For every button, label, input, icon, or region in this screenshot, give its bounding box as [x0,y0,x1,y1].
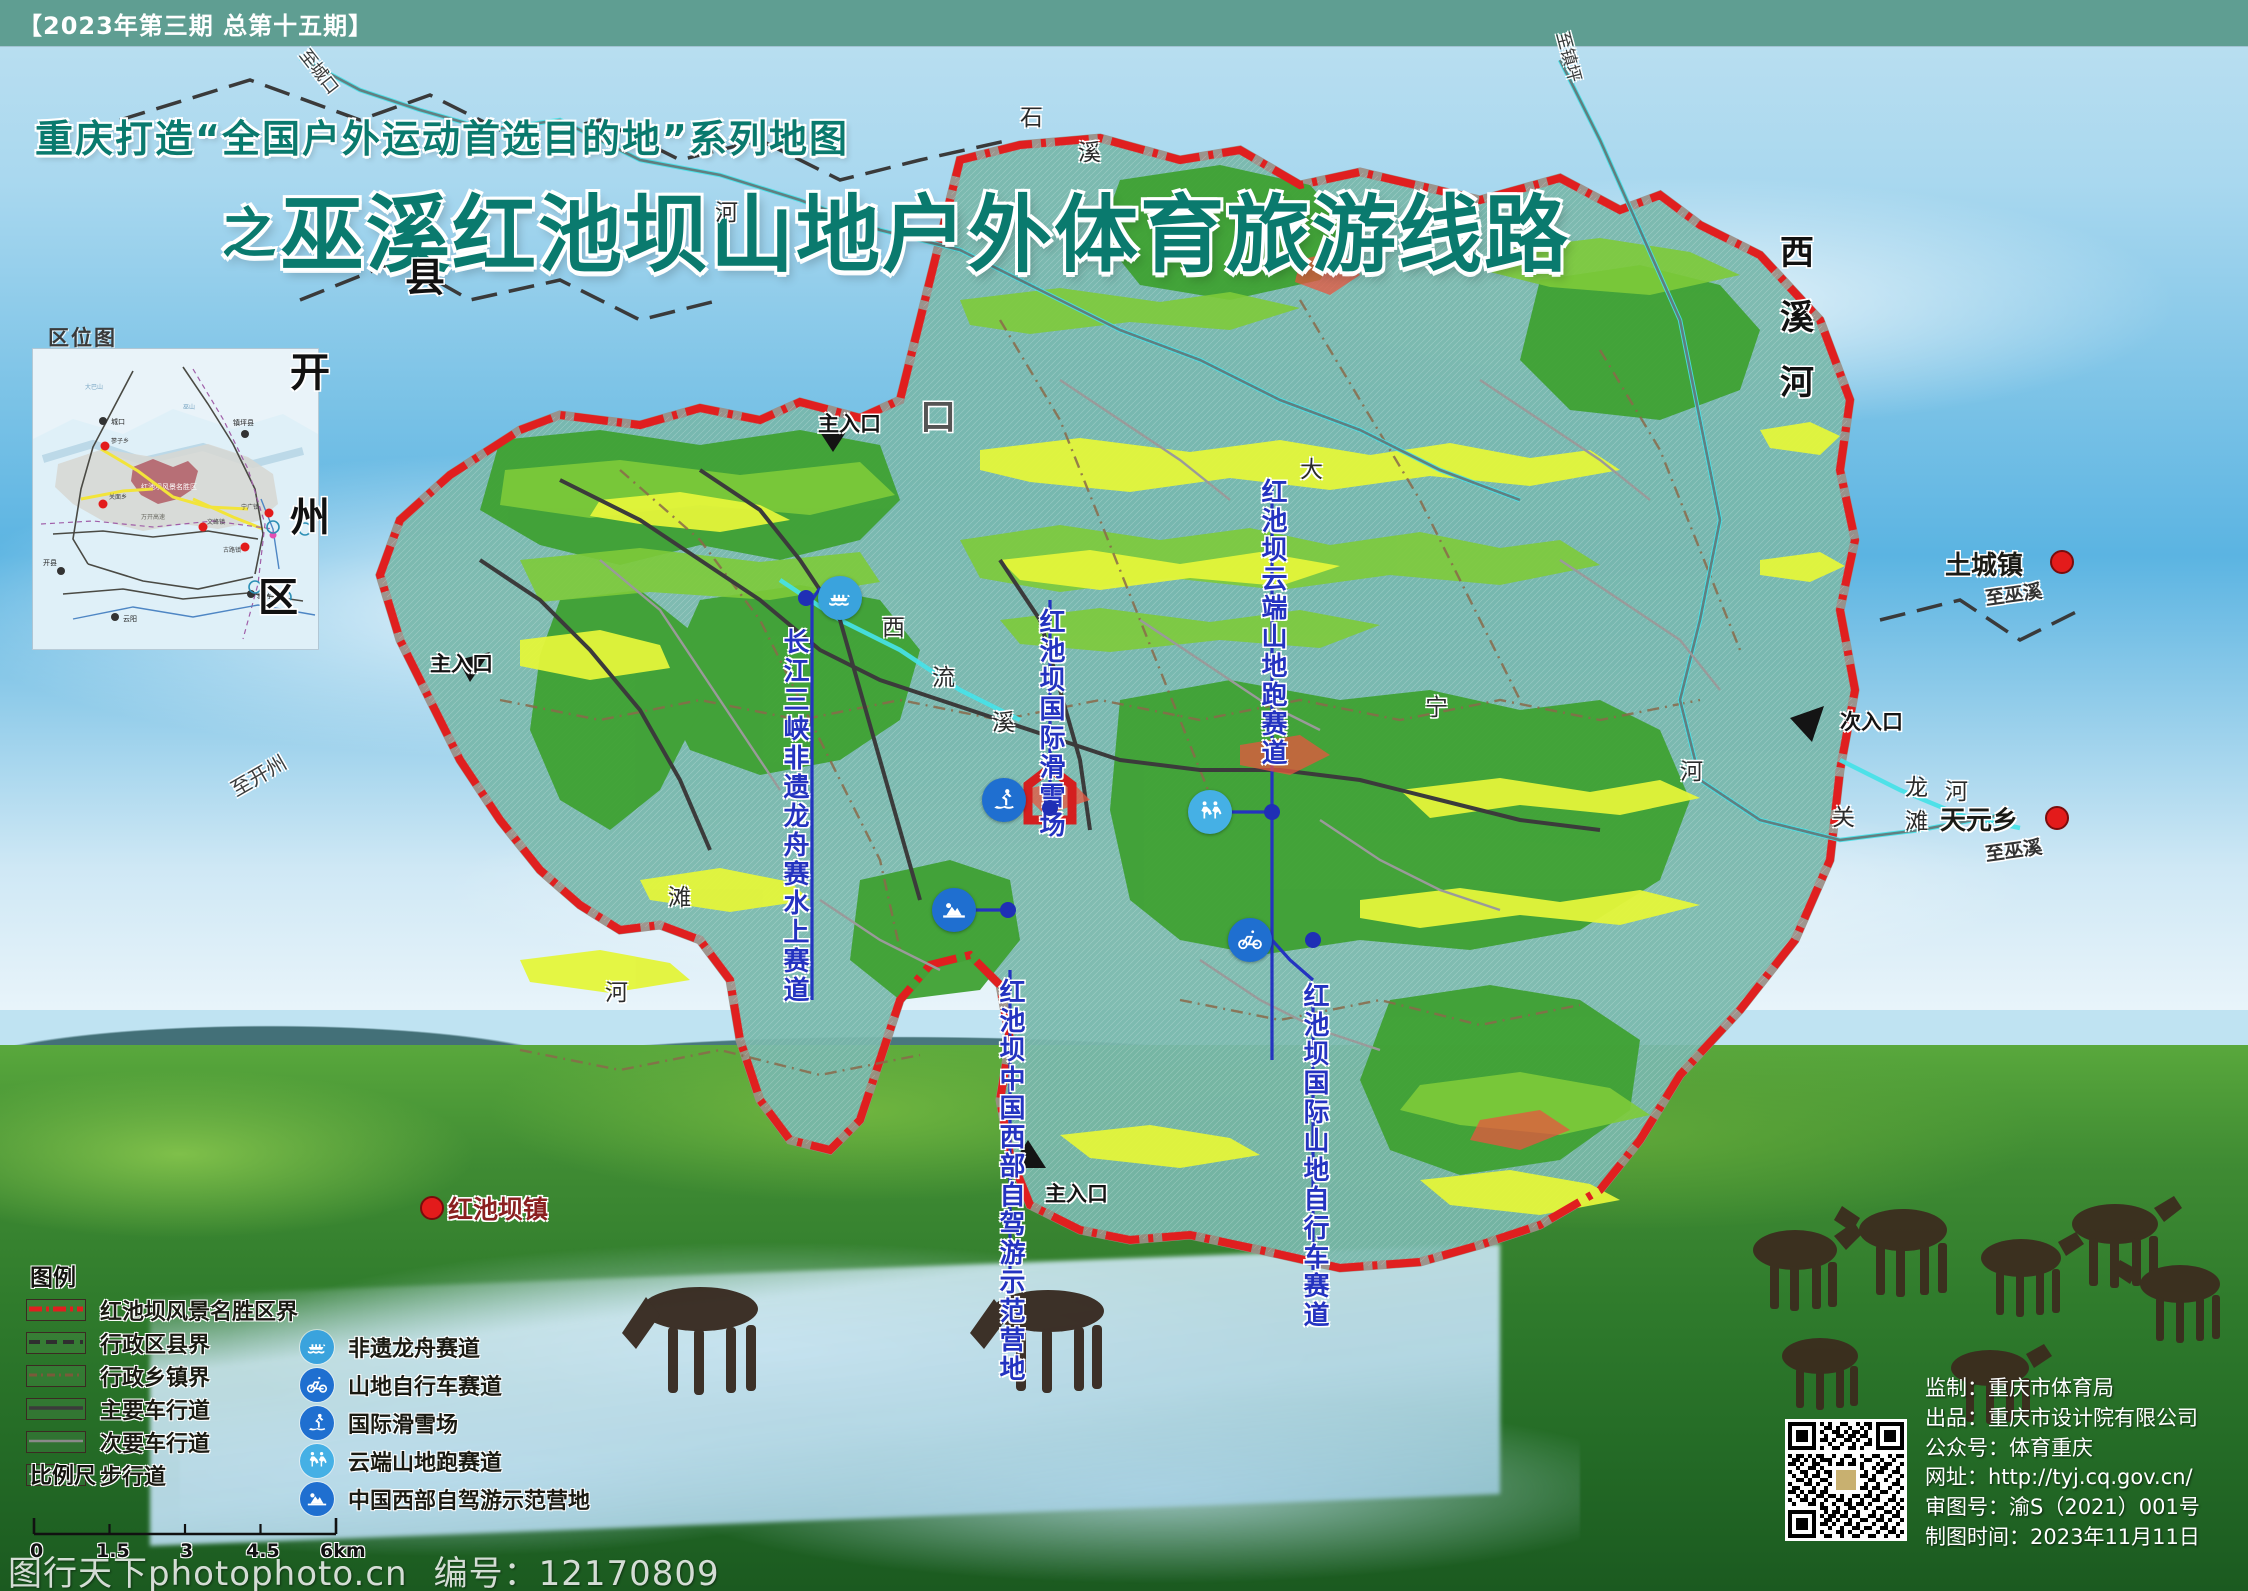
route-endpoint-run [1264,804,1280,820]
credit-review-number: 审图号：渝S（2021）001号 [1925,1493,2245,1523]
swatch-county-boundary [26,1332,86,1354]
town-dot-tuchengzhen [2050,550,2074,574]
map-label-he: 河 [1780,355,1818,404]
legend-point-symbols: 非遗龙舟赛道 山地自行车赛道 国际滑雪场 云端山地跑赛道 中国西部自驾游示范营地 [300,1330,720,1520]
legend-label-ski: 国际滑雪场 [348,1407,458,1439]
route-endpoint-ski [1042,800,1058,816]
watermark-site: 图行天下photophoto.cn [8,1554,408,1591]
note-shi: 石 [1020,98,1043,132]
running-icon[interactable] [1188,790,1232,834]
note-long: 龙 [1905,768,1928,802]
credit-producer: 出品：重庆市设计院有限公司 [1925,1404,2245,1434]
note-he3: 河 [1945,772,1968,806]
title-main-text: 巫溪红池坝山地户外体育旅游线路 [280,186,1570,284]
legend-label-mtb: 山地自行车赛道 [348,1369,502,1401]
legend-label-township-boundary: 行政乡镇界 [100,1360,210,1392]
map-label-zhou: 州 [290,485,334,543]
legend-item-scenic-boundary: 红池坝风景名胜区界 [26,1296,356,1324]
route-endpoint-mtb [1305,932,1321,948]
note-xi4: 溪 [992,703,1015,737]
note-he4: 河 [605,973,628,1007]
map-label-xi: 西 [1780,225,1818,274]
issue-banner: 【2023年第三期 总第十五期】 [0,0,2248,46]
watermark: 图行天下photophoto.cn编号：12170809 [8,1546,720,1591]
svg-text:开县: 开县 [43,559,57,567]
legend-label-camping: 中国西部自驾游示范营地 [348,1483,590,1515]
map-label-xian: 县 [405,245,449,303]
ski-icon[interactable] [982,778,1026,822]
svg-text:巫山: 巫山 [183,403,195,411]
route-label-dragon-boat: 长江三峡非遗龙舟赛水上赛道 [776,628,813,1005]
legend-item-ski: 国际滑雪场 [300,1406,720,1440]
legend-title: 图例 [30,1258,76,1292]
camping-icon [300,1482,334,1516]
note-guan: 关 [1832,798,1855,832]
credits-block: 监制：重庆市体育局 出品：重庆市设计院有限公司 公众号：体育重庆 网址：http… [1925,1374,2245,1553]
note-liu: 流 [932,658,955,692]
dragon-boat-icon[interactable] [818,576,862,620]
scale-bar [30,1516,340,1538]
bicycle-icon[interactable] [1228,918,1272,962]
map-label-xi2: 溪 [1780,290,1818,339]
legend-label-secondary-road: 次要车行道 [100,1426,210,1458]
legend-item-camping: 中国西部自驾游示范营地 [300,1482,720,1516]
entrance-label-secondary-east: 次入口 [1840,706,1903,736]
town-dot-tianyuanxiang [2045,806,2069,830]
qr-code[interactable] [1785,1419,1907,1541]
title-prefix: 之 [222,202,278,265]
town-dot-hongchibazhen [420,1196,444,1220]
swatch-township-boundary [26,1365,86,1387]
legend-label-primary-road: 主要车行道 [100,1393,210,1425]
camping-icon[interactable] [932,888,976,932]
swatch-secondary-road [26,1431,86,1453]
map-label-qu: 区 [258,565,302,623]
svg-text:镇坪县: 镇坪县 [233,418,254,427]
credit-date: 制图时间：2023年11月11日 [1925,1523,2245,1553]
town-label-hongchibazhen: 红池坝镇 [448,1190,548,1226]
note-da: 大 [1300,450,1323,484]
svg-text:古路镇: 古路镇 [223,546,241,554]
route-label-mtb: 红池坝国际山地自行车赛道 [1296,982,1333,1330]
legend-label-scenic-boundary: 红池坝风景名胜区界 [100,1294,298,1326]
subtitle: 重庆打造“全国户外运动首选目的地”系列地图 [35,108,849,163]
svg-text:城口: 城口 [111,418,125,426]
entrance-label-main-south: 主入口 [1045,1178,1108,1208]
note-ning: 宁 [1425,688,1448,722]
map-label-kai: 开 [290,340,334,398]
scale-bar-title: 比例尺 [30,1458,96,1490]
route-label-cloud-mountain-run: 红池坝云端山地跑赛道 [1254,478,1291,768]
route-endpoint-camping [1000,902,1016,918]
route-endpoint-dragon-boat [798,590,814,606]
svg-text:宁广镇: 宁广镇 [241,503,259,511]
credit-website[interactable]: 网址：http://tyj.cq.gov.cn/ [1925,1463,2245,1493]
ski-icon [300,1406,334,1440]
route-label-camping: 红池坝中国西部自驾游示范营地 [992,978,1029,1384]
note-xi: 溪 [1078,133,1101,167]
swatch-primary-road [26,1398,86,1420]
credit-supervisor: 监制：重庆市体育局 [1925,1374,2245,1404]
bicycle-icon [300,1368,334,1402]
svg-text:蓼子乡: 蓼子乡 [111,437,129,445]
note-tan2: 滩 [668,878,691,912]
svg-text:万开高速: 万开高速 [141,513,165,521]
entrance-label-main-west: 主入口 [430,648,493,678]
legend-label-county-boundary: 行政区县界 [100,1327,210,1359]
legend-label-dragon-boat: 非遗龙舟赛道 [348,1331,480,1363]
svg-text:文峰镇: 文峰镇 [207,518,225,526]
watermark-number: 编号：12170809 [434,1554,720,1591]
svg-text:关面乡: 关面乡 [109,493,127,501]
dragon-boat-icon [300,1330,334,1364]
credit-wechat: 公众号：体育重庆 [1925,1434,2245,1464]
legend-label-mountain-run: 云端山地跑赛道 [348,1445,502,1477]
note-he2: 河 [1680,752,1703,786]
issue-text: 【2023年第三期 总第十五期】 [0,6,373,41]
legend-label-footpath: 步行道 [100,1459,166,1491]
town-label-tuchengzhen: 土城镇 [1945,545,2023,582]
note-tan: 滩 [1905,802,1928,836]
legend-item-mountain-run: 云端山地跑赛道 [300,1444,720,1478]
swatch-scenic-boundary [26,1299,86,1321]
note-he: 河 [715,193,738,227]
svg-text:云阳: 云阳 [123,614,137,623]
note-xi3: 西 [882,608,905,642]
svg-text:大巴山: 大巴山 [85,383,103,391]
map-poster: 【2023年第三期 总第十五期】 重庆打造“全国户外运动首选目的地”系列地图 之… [0,0,2248,1591]
entrance-label-main-north: 主入口 [818,408,881,438]
legend-item-dragon-boat: 非遗龙舟赛道 [300,1330,720,1364]
running-icon [300,1444,334,1478]
note-kou: 口 [920,388,960,440]
legend-item-mtb: 山地自行车赛道 [300,1368,720,1402]
